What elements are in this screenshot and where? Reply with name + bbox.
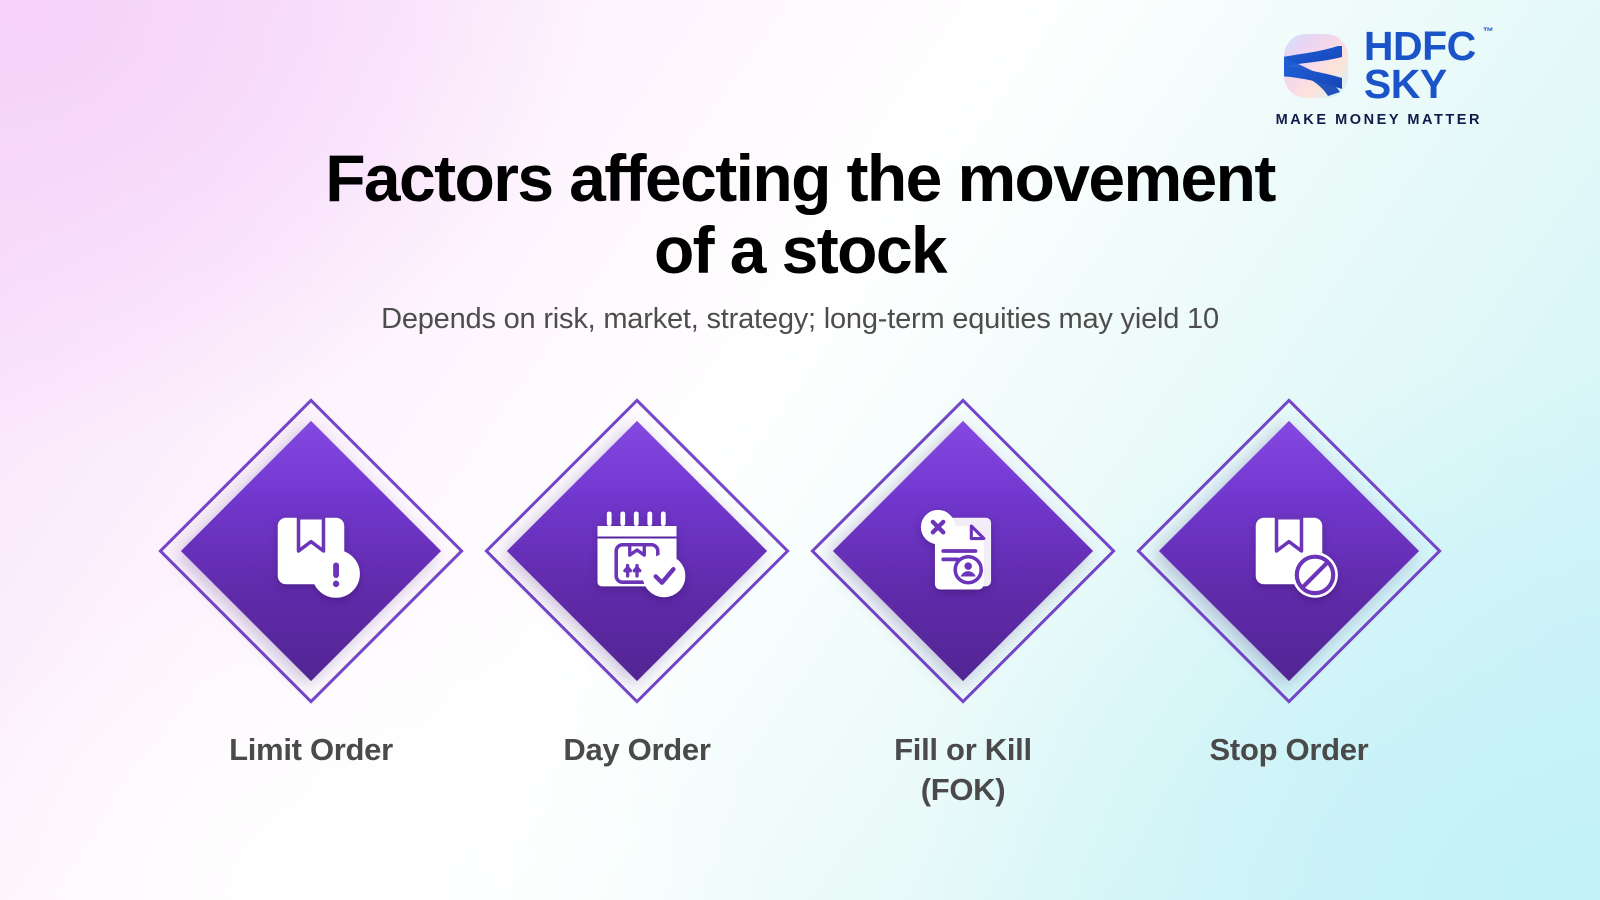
brand-tagline: MAKE MONEY MATTER [1276,112,1482,128]
card-fill-or-kill[interactable]: Fill or Kill (FOK) [800,396,1126,809]
package-box-bookmark-blocked-icon [1237,499,1341,603]
logo-row: HDFC SKY ™ [1282,28,1476,103]
card-label: Day Order [563,730,710,770]
card-label: Stop Order [1210,730,1369,770]
document-id-person-cancel-icon [911,499,1015,603]
trademark-icon: ™ [1483,26,1494,38]
card-stop-order[interactable]: Stop Order [1126,396,1452,809]
page-subtitle: Depends on risk, market, strategy; long-… [0,303,1600,336]
logo-word-sky: SKY [1364,66,1476,104]
diamond-badge [482,396,792,706]
brand-logo: HDFC SKY ™ MAKE MONEY MATTER [1276,28,1482,128]
diamond-badge [156,396,466,706]
package-box-bookmark-alert-icon [259,499,363,603]
page-title-line-2: of a stock [654,213,946,287]
card-label: Fill or Kill (FOK) [894,730,1032,809]
diamond-badge [1134,396,1444,706]
logo-wordmark: HDFC SKY [1364,28,1476,103]
page-title-line-1: Factors affecting the movement [325,141,1275,215]
card-day-order[interactable]: Day Order [474,396,800,809]
card-label: Limit Order [229,730,393,770]
diamond-badge [808,396,1118,706]
calendar-package-check-icon [585,499,689,603]
page-title: Factors affecting the movement of a stoc… [0,143,1600,287]
hdfc-sky-swoosh-icon [1282,32,1350,100]
order-type-cards: Limit Order [0,396,1600,809]
card-limit-order[interactable]: Limit Order [148,396,474,809]
